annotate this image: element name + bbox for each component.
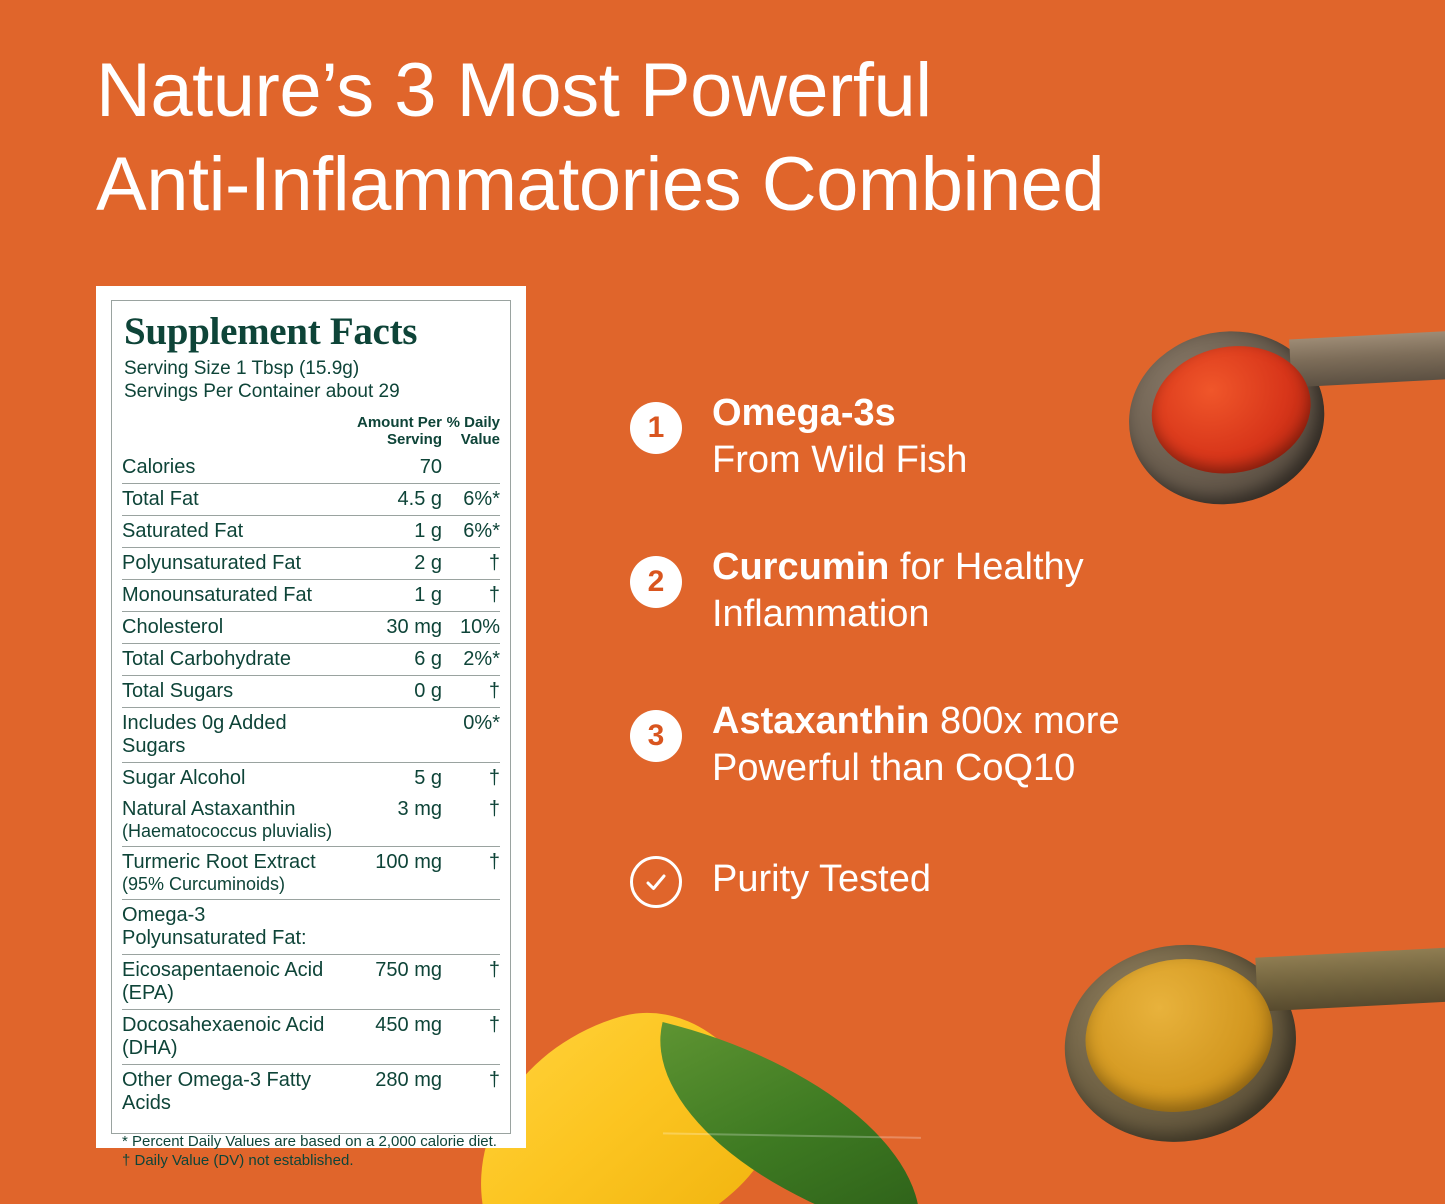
row-amount: 0 g — [346, 676, 442, 708]
nutrition-table: Calories 70 Total Fat 4.5 g 6%* Saturate… — [122, 452, 500, 794]
row-dv — [442, 900, 500, 955]
row-amount: 280 mg — [346, 1065, 442, 1120]
table-row: Cholesterol 30 mg 10% — [122, 612, 500, 644]
benefit-text: Omega-3s From Wild Fish — [712, 388, 967, 484]
row-label: Cholesterol — [122, 612, 346, 644]
row-dv: † — [442, 1065, 500, 1120]
row-label: Natural Astaxanthin (Haematococcus pluvi… — [122, 794, 346, 847]
row-dv: † — [442, 1010, 500, 1065]
row-amount: 750 mg — [346, 955, 442, 1010]
benefit-subtitle: Powerful than CoQ10 — [712, 747, 1075, 789]
row-amount: 1 g — [346, 516, 442, 548]
benefit-text: Astaxanthin 800x more Powerful than CoQ1… — [712, 696, 1120, 792]
column-headers: Amount Per Serving % Daily Value — [122, 410, 500, 452]
row-dv: 6%* — [442, 516, 500, 548]
serving-information: Serving Size 1 Tbsp (15.9g) Servings Per… — [124, 357, 500, 403]
row-dv: 10% — [442, 612, 500, 644]
promo-graphic: Nature’s 3 Most Powerful Anti-Inflammato… — [0, 0, 1445, 1204]
ingredient-source: (95% Curcuminoids) — [122, 874, 346, 895]
spoon-handle — [1255, 947, 1445, 1012]
table-row: Total Carbohydrate 6 g 2%* — [122, 644, 500, 676]
row-label: Eicosapentaenoic Acid (EPA) — [122, 955, 346, 1010]
ingredient-name: Turmeric Root Extract — [122, 851, 316, 873]
supplement-facts-panel: Supplement Facts Serving Size 1 Tbsp (15… — [96, 286, 526, 1148]
benefit-text: Curcumin for Healthy Inflammation — [712, 542, 1084, 638]
number-badge-3: 3 — [630, 710, 682, 762]
row-label: Saturated Fat — [122, 516, 346, 548]
row-amount — [346, 708, 442, 763]
number-badge-1: 1 — [630, 402, 682, 454]
table-row: Other Omega-3 Fatty Acids 280 mg † — [122, 1065, 500, 1120]
benefits-list: 1 Omega-3s From Wild Fish 2 Curcumin for… — [630, 388, 1230, 908]
check-circle-icon — [630, 856, 682, 908]
row-dv: † — [442, 580, 500, 612]
row-label: Includes 0g Added Sugars — [122, 708, 346, 763]
benefit-title: Curcumin — [712, 546, 889, 588]
benefit-text: Purity Tested — [712, 850, 931, 903]
table-row: Docosahexaenoic Acid (DHA) 450 mg † — [122, 1010, 500, 1065]
benefit-label: Purity Tested — [712, 858, 931, 900]
table-row: Sugar Alcohol 5 g † — [122, 763, 500, 795]
row-dv: † — [442, 548, 500, 580]
table-row: Includes 0g Added Sugars 0%* — [122, 708, 500, 763]
ingredients-table: Natural Astaxanthin (Haematococcus pluvi… — [122, 794, 500, 1119]
table-row: Saturated Fat 1 g 6%* — [122, 516, 500, 548]
row-amount: 4.5 g — [346, 484, 442, 516]
row-amount: 1 g — [346, 580, 442, 612]
table-row: Total Fat 4.5 g 6%* — [122, 484, 500, 516]
table-row: Polyunsaturated Fat 2 g † — [122, 548, 500, 580]
row-dv: † — [442, 676, 500, 708]
ingredient-name: Natural Astaxanthin — [122, 798, 295, 820]
row-amount: 6 g — [346, 644, 442, 676]
supplement-facts-title: Supplement Facts — [124, 311, 500, 353]
table-row: Monounsaturated Fat 1 g † — [122, 580, 500, 612]
row-dv: 2%* — [442, 644, 500, 676]
footnotes: * Percent Daily Values are based on a 2,… — [122, 1132, 500, 1170]
ingredient-source: (Haematococcus pluvialis) — [122, 821, 346, 842]
benefit-rest: for Healthy — [889, 546, 1083, 588]
table-row: Total Sugars 0 g † — [122, 676, 500, 708]
table-row: Omega-3 Polyunsaturated Fat: — [122, 900, 500, 955]
row-amount: 30 mg — [346, 612, 442, 644]
row-label: Other Omega-3 Fatty Acids — [122, 1065, 346, 1120]
benefit-subtitle: Inflammation — [712, 593, 930, 635]
benefit-title: Omega-3s — [712, 392, 896, 434]
supplement-facts-border: Supplement Facts Serving Size 1 Tbsp (15… — [111, 300, 511, 1134]
benefit-item-purity: Purity Tested — [630, 850, 1230, 908]
daily-value-header: % Daily Value — [442, 414, 500, 448]
row-amount: 450 mg — [346, 1010, 442, 1065]
row-amount: 3 mg — [346, 794, 442, 847]
table-row: Natural Astaxanthin (Haematococcus pluvi… — [122, 794, 500, 847]
row-label: Sugar Alcohol — [122, 763, 346, 795]
row-label: Omega-3 Polyunsaturated Fat: — [122, 900, 346, 955]
row-amount: 2 g — [346, 548, 442, 580]
benefit-item-curcumin: 2 Curcumin for Healthy Inflammation — [630, 542, 1230, 638]
row-label: Total Fat — [122, 484, 346, 516]
row-label: Total Sugars — [122, 676, 346, 708]
row-dv: † — [442, 763, 500, 795]
row-label: Polyunsaturated Fat — [122, 548, 346, 580]
benefit-subtitle: From Wild Fish — [712, 439, 967, 481]
row-dv: † — [442, 794, 500, 847]
page-title: Nature’s 3 Most Powerful Anti-Inflammato… — [96, 44, 1396, 232]
row-amount — [346, 900, 442, 955]
row-label: Calories — [122, 452, 346, 484]
benefit-rest: 800x more — [929, 700, 1119, 742]
amount-per-serving-header: Amount Per Serving — [346, 414, 442, 448]
row-label: Total Carbohydrate — [122, 644, 346, 676]
number-badge-2: 2 — [630, 556, 682, 608]
turmeric-spoon-image — [1049, 892, 1445, 1201]
row-label: Turmeric Root Extract (95% Curcuminoids) — [122, 847, 346, 900]
row-dv: † — [442, 847, 500, 900]
table-row: Calories 70 — [122, 452, 500, 484]
row-amount: 100 mg — [346, 847, 442, 900]
spoon-handle — [1289, 330, 1445, 388]
benefit-item-astaxanthin: 3 Astaxanthin 800x more Powerful than Co… — [630, 696, 1230, 792]
row-label: Docosahexaenoic Acid (DHA) — [122, 1010, 346, 1065]
row-dv: 6%* — [442, 484, 500, 516]
benefit-title: Astaxanthin — [712, 700, 929, 742]
row-dv: † — [442, 955, 500, 1010]
row-dv — [442, 452, 500, 484]
benefit-item-omega3: 1 Omega-3s From Wild Fish — [630, 388, 1230, 484]
row-amount: 70 — [346, 452, 442, 484]
row-dv: 0%* — [442, 708, 500, 763]
table-row: Turmeric Root Extract (95% Curcuminoids)… — [122, 847, 500, 900]
row-amount: 5 g — [346, 763, 442, 795]
table-row: Eicosapentaenoic Acid (EPA) 750 mg † — [122, 955, 500, 1010]
row-label: Monounsaturated Fat — [122, 580, 346, 612]
